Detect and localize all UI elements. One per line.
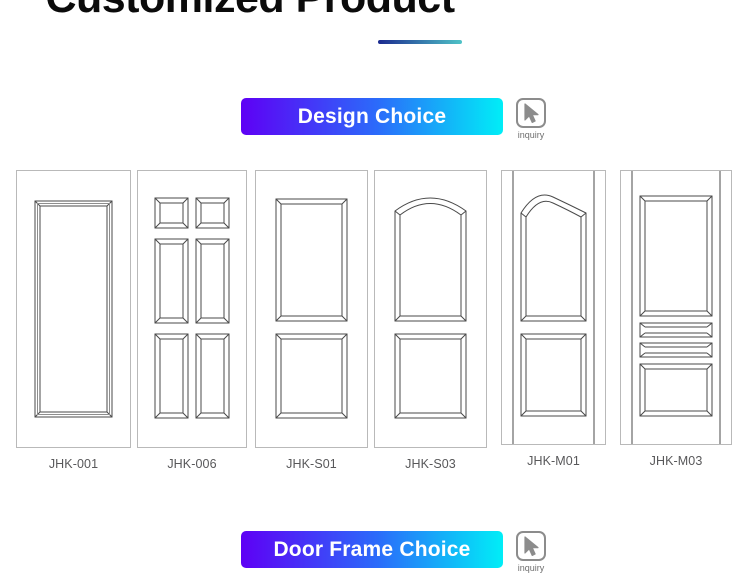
door-thumbnail[interactable]	[374, 170, 487, 448]
door-card-jhk-m01[interactable]: JHK-M01	[501, 170, 606, 468]
design-choice-inquiry-button[interactable]: inquiry	[513, 98, 549, 141]
customized-product-page: Customized Product Design Choice inquiry	[0, 0, 750, 577]
door-frame-choice-section: Door Frame Choice inquiry	[241, 531, 549, 574]
door-card-jhk-s03[interactable]: JHK-S03	[374, 170, 487, 471]
design-choice-section: Design Choice inquiry	[241, 98, 549, 141]
door-label: JHK-S03	[405, 457, 456, 471]
door-card-jhk-001[interactable]: JHK-001	[16, 170, 131, 471]
door-thumbnail[interactable]	[16, 170, 131, 448]
cursor-arrow-icon	[524, 536, 542, 558]
door-label: JHK-M03	[650, 454, 703, 468]
inquiry-label: inquiry	[518, 563, 545, 574]
title-underline-accent	[378, 40, 462, 44]
inquiry-label: inquiry	[518, 130, 545, 141]
door-thumbnail[interactable]	[137, 170, 247, 448]
door-label: JHK-001	[49, 457, 98, 471]
door-card-jhk-006[interactable]: JHK-006	[137, 170, 247, 471]
door-thumbnail[interactable]	[255, 170, 368, 448]
door-frame-choice-button[interactable]: Door Frame Choice	[241, 531, 503, 568]
inquiry-box[interactable]	[516, 98, 546, 128]
door-frame-choice-inquiry-button[interactable]: inquiry	[513, 531, 549, 574]
door-label: JHK-S01	[286, 457, 337, 471]
door-card-jhk-m03[interactable]: JHK-M03	[620, 170, 732, 468]
door-thumbnail[interactable]	[501, 170, 606, 445]
door-label: JHK-M01	[527, 454, 580, 468]
design-choice-button[interactable]: Design Choice	[241, 98, 503, 135]
door-label: JHK-006	[167, 457, 216, 471]
inquiry-box[interactable]	[516, 531, 546, 561]
door-thumbnail[interactable]	[620, 170, 732, 445]
page-title: Customized Product	[0, 0, 500, 23]
door-card-jhk-s01[interactable]: JHK-S01	[255, 170, 368, 471]
cursor-arrow-icon	[524, 103, 542, 125]
